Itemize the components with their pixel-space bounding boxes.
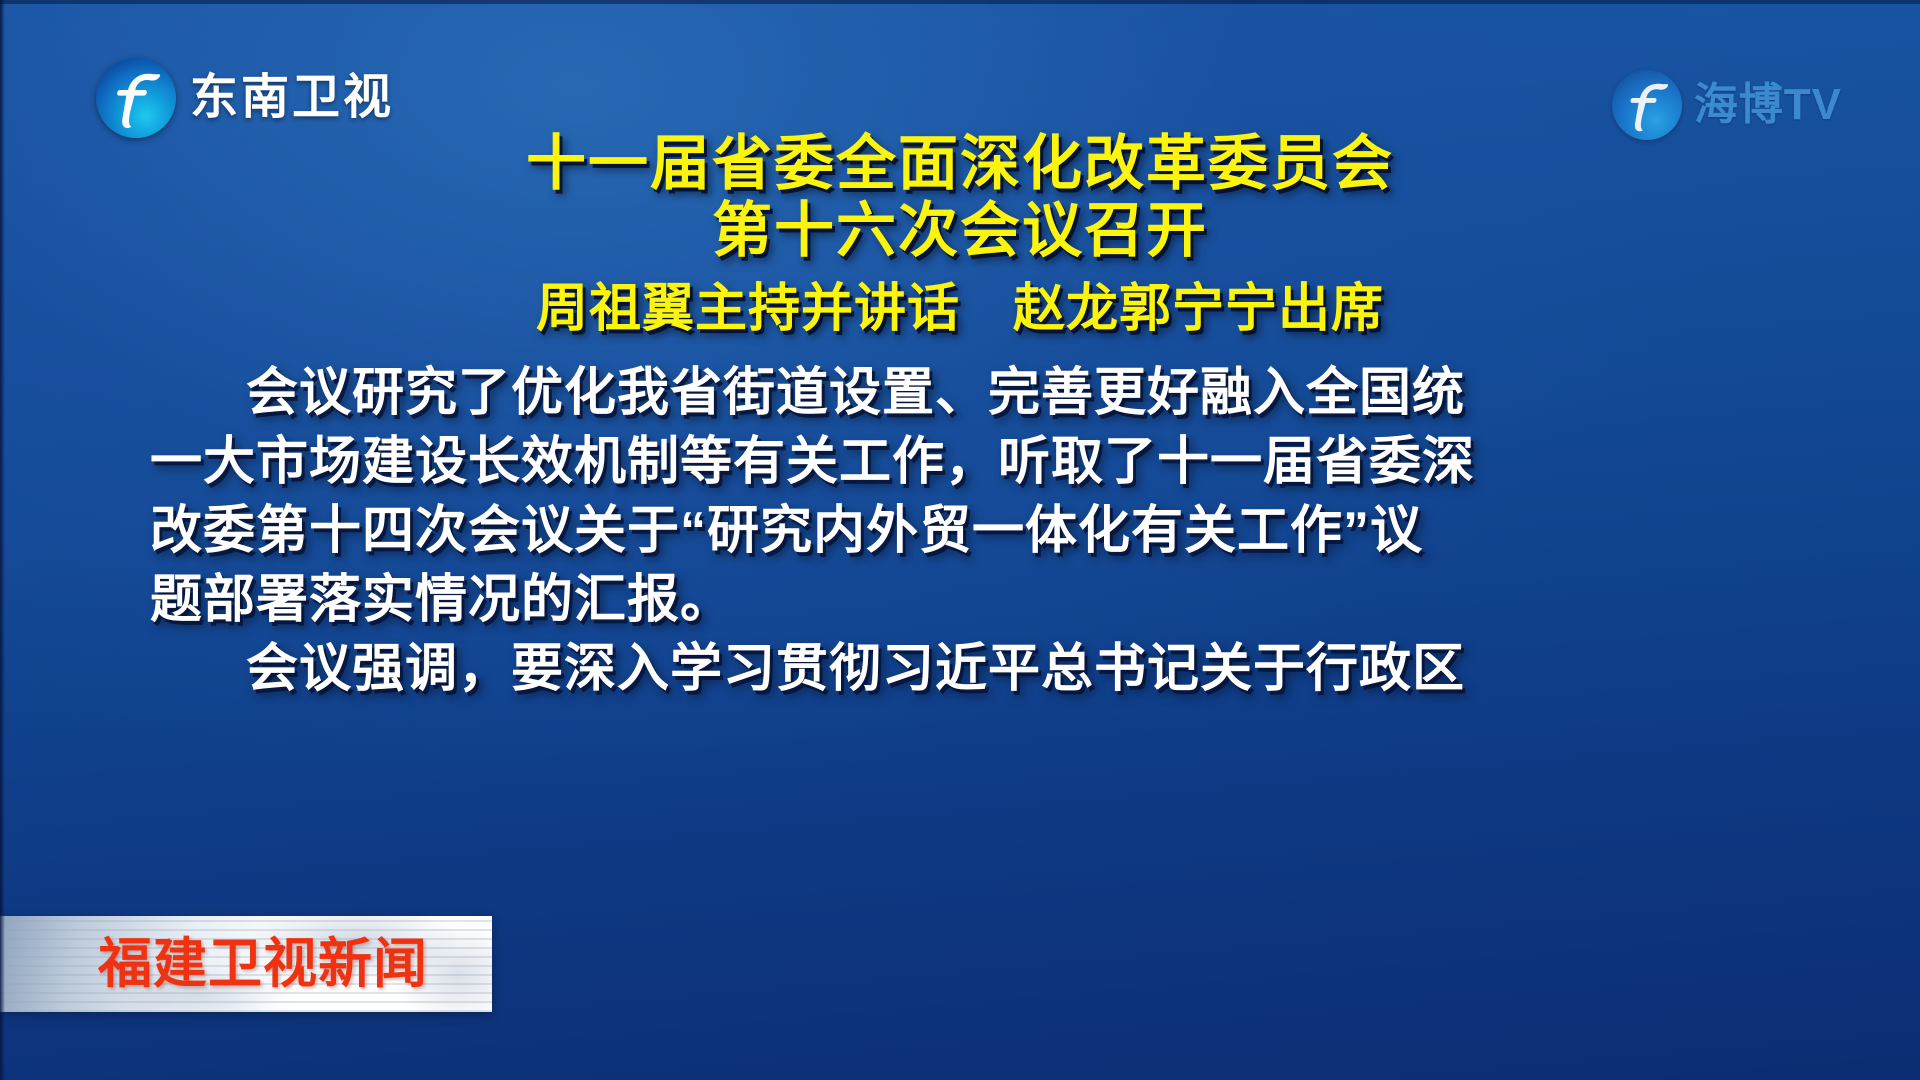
program-banner-label: 福建卫视新闻: [98, 937, 428, 991]
body-line-3: 改委第十四次会议关于“研究内外贸一体化有关工作”议: [150, 497, 1770, 566]
body-line-4: 题部署落实情况的汇报。: [150, 566, 1770, 635]
news-caption: 十一届省委全面深化改革委员会 第十六次会议召开 周祖翼主持并讲话 赵龙郭宁宁出席…: [0, 130, 1920, 704]
body-line-1: 会议研究了优化我省街道设置、完善更好融入全国统: [150, 359, 1770, 428]
subheadline: 周祖翼主持并讲话 赵龙郭宁宁出席: [0, 280, 1920, 338]
headline-line-2: 第十六次会议召开: [0, 197, 1920, 264]
body-line-5: 会议强调，要深入学习贯彻习近平总书记关于行政区: [150, 635, 1770, 704]
fujian-f-bird-icon: [96, 58, 176, 138]
watermark-logo: 海博TV: [1612, 70, 1842, 140]
broadcast-screen: 东南卫视 海博TV 十一届省委全面深化改革委员会 第十六次会议召开 周祖翼主持并…: [0, 0, 1920, 1080]
program-banner: 福建卫视新闻: [0, 916, 492, 1012]
haibo-f-bird-icon: [1612, 70, 1682, 140]
watermark-logo-wordmark: 海博TV: [1694, 83, 1842, 127]
channel-logo-wordmark: 东南卫视: [190, 74, 394, 122]
channel-logo: 东南卫视: [96, 58, 394, 138]
news-body-copy: 会议研究了优化我省街道设置、完善更好融入全国统 一大市场建设长效机制等有关工作，…: [0, 359, 1920, 705]
body-line-2: 一大市场建设长效机制等有关工作，听取了十一届省委深: [150, 428, 1770, 497]
headline-line-1: 十一届省委全面深化改革委员会: [0, 130, 1920, 197]
